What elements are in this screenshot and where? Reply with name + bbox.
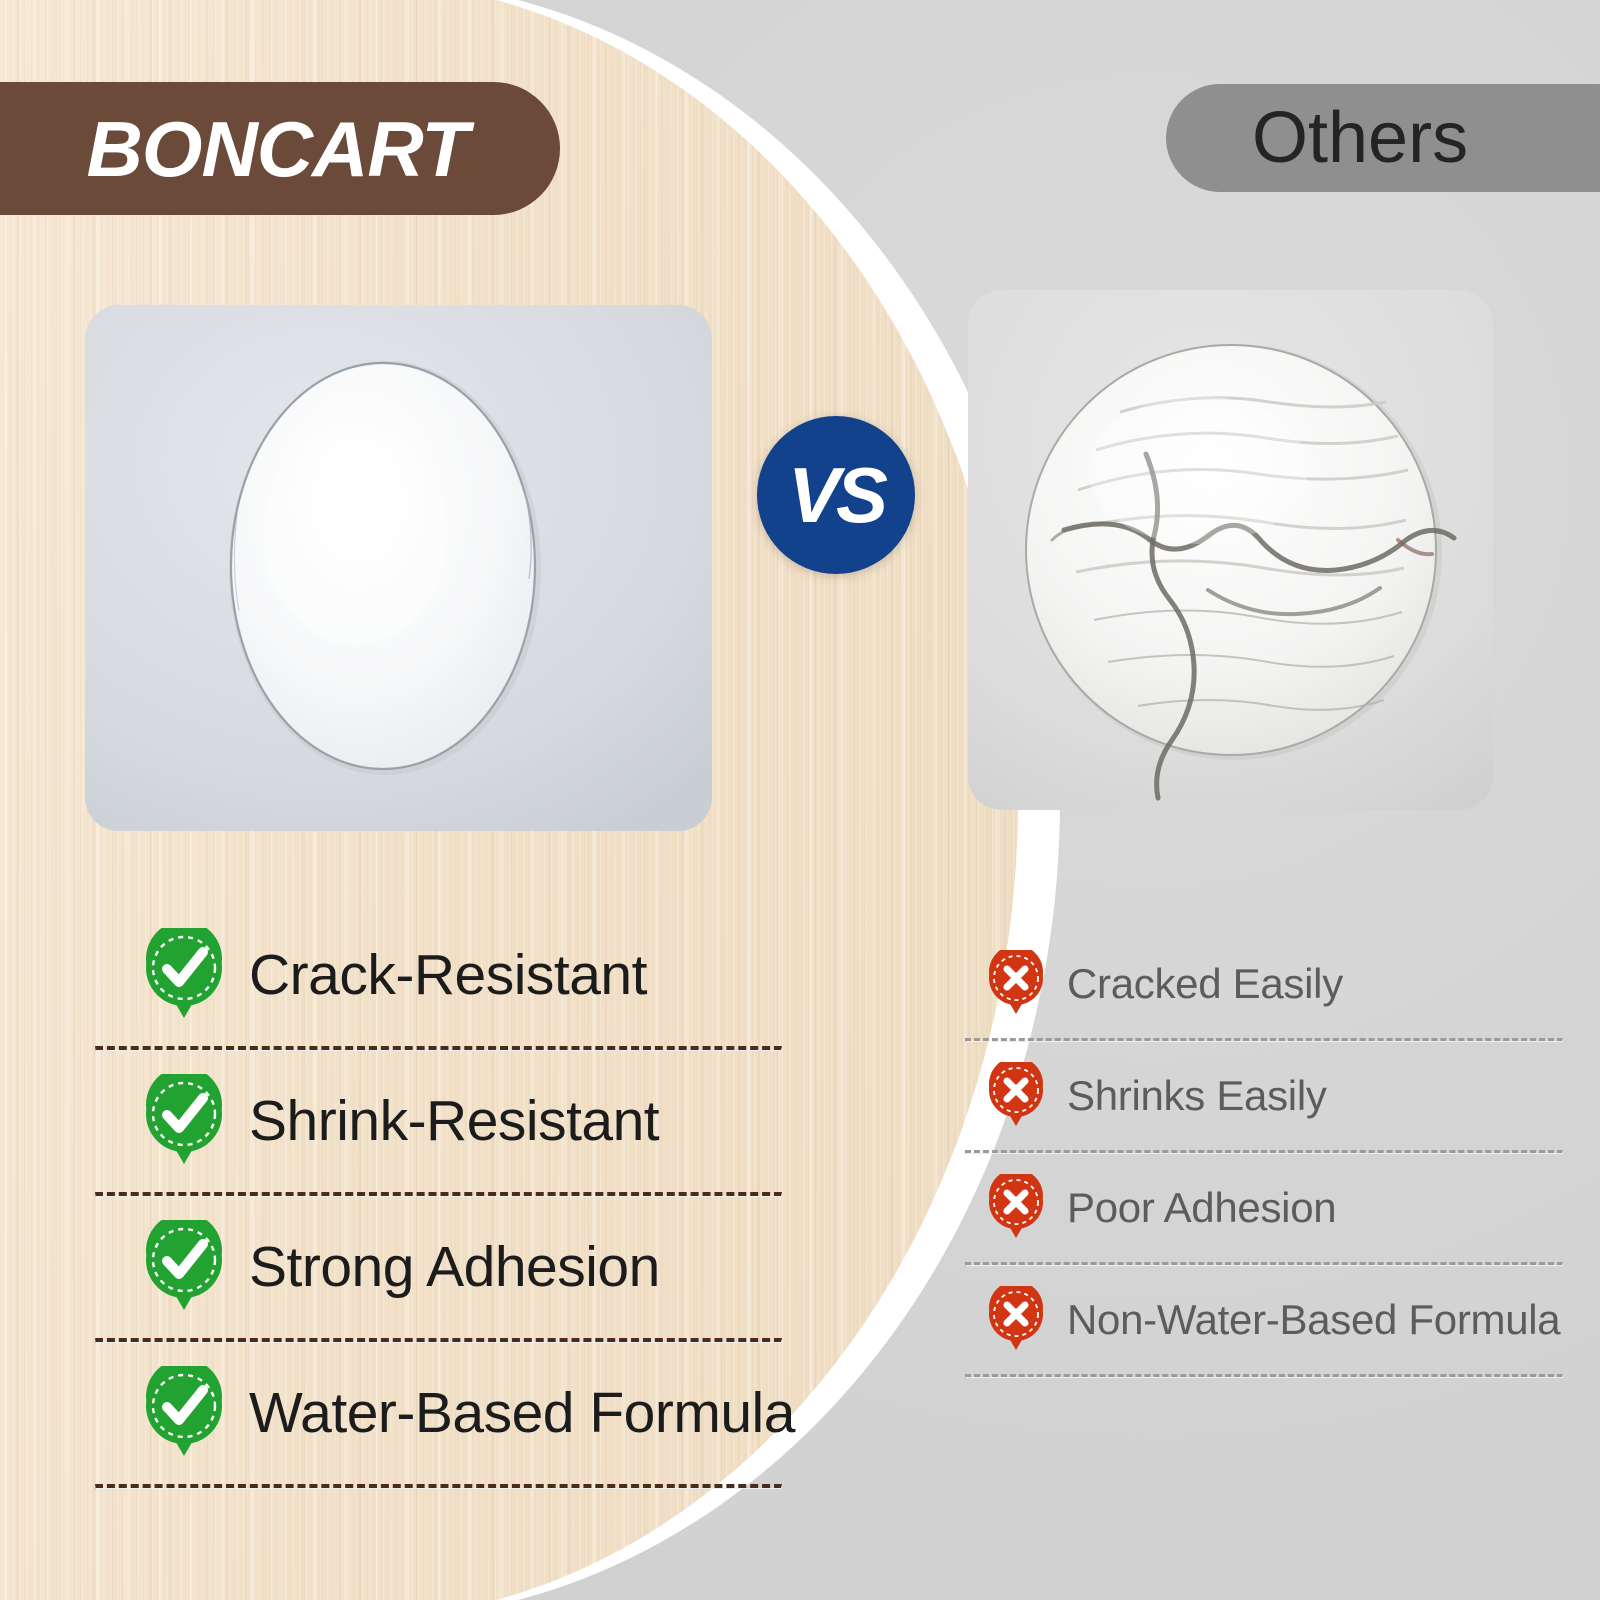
cross-pin-icon	[987, 950, 1045, 1018]
versus-label: VS	[788, 456, 884, 534]
list-item-label: Shrinks Easily	[1067, 1074, 1327, 1118]
others-label: Others	[1252, 102, 1468, 174]
list-item: Strong Adhesion	[95, 1197, 785, 1338]
brand-product-photo	[85, 305, 712, 831]
list-item-label: Poor Adhesion	[1067, 1186, 1336, 1230]
brand-feature-list: Crack-Resistant Shrink-Resistant Strong …	[95, 905, 785, 1489]
brand-logo-text: BONCART	[86, 110, 468, 188]
cross-pin-icon	[987, 1062, 1045, 1130]
check-pin-icon	[143, 1220, 225, 1316]
list-item: Water-Based Formula	[95, 1343, 785, 1484]
list-item: Shrink-Resistant	[95, 1051, 785, 1192]
list-item: Crack-Resistant	[95, 905, 785, 1046]
check-pin-icon	[143, 928, 225, 1024]
list-item: Poor Adhesion	[965, 1154, 1565, 1262]
check-pin-icon	[143, 1074, 225, 1170]
list-item-label: Crack-Resistant	[249, 946, 647, 1006]
brand-header-pill: BONCART	[0, 82, 560, 215]
comparison-infographic: BONCART Others	[0, 0, 1600, 1600]
list-divider	[95, 1484, 782, 1489]
list-item: Cracked Easily	[965, 930, 1565, 1038]
list-item-label: Strong Adhesion	[249, 1238, 660, 1298]
list-item-label: Water-Based Formula	[249, 1384, 795, 1444]
list-item-label: Cracked Easily	[1067, 962, 1343, 1006]
list-item: Non-Water-Based Formula	[965, 1266, 1565, 1374]
cross-pin-icon	[987, 1174, 1045, 1242]
check-pin-icon	[143, 1366, 225, 1462]
list-item: Shrinks Easily	[965, 1042, 1565, 1150]
list-item-label: Shrink-Resistant	[249, 1092, 659, 1152]
competitor-feature-list: Cracked Easily Shrinks Easily Poor Adhes…	[965, 930, 1565, 1378]
list-divider	[965, 1374, 1563, 1378]
competitor-product-photo	[968, 290, 1493, 810]
list-item-label: Non-Water-Based Formula	[1067, 1298, 1560, 1342]
others-header-pill: Others	[1166, 84, 1600, 192]
cross-pin-icon	[987, 1286, 1045, 1354]
versus-badge: VS	[757, 416, 915, 574]
